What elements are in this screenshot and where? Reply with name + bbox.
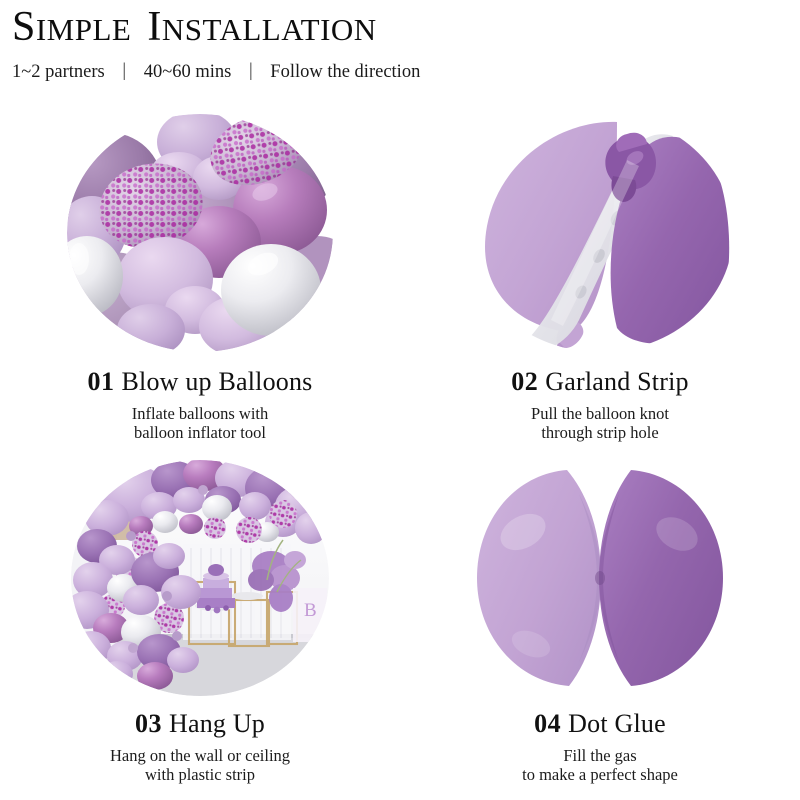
step-card-04: 04Dot Glue Fill the gas to make a perfec…	[400, 452, 800, 800]
title-simple-rest: IMPLE	[36, 12, 132, 47]
step-01-caption: 01Blow up Balloons Inflate balloons with…	[0, 367, 400, 442]
dot-glue-balloons-illustration	[471, 460, 729, 696]
step-03-title: Hang Up	[169, 709, 265, 738]
step-04-heading: 04Dot Glue	[400, 709, 800, 739]
svg-text:B: B	[304, 600, 317, 621]
step-04-caption: 04Dot Glue Fill the gas to make a perfec…	[400, 709, 800, 784]
step-03-number: 03	[135, 709, 162, 738]
step-04-title: Dot Glue	[568, 709, 666, 738]
installation-guide-page: SIMPLEINSTALLATION 1~2 partners | 40~60 …	[0, 0, 800, 800]
step-03-desc-line-1: Hang on the wall or ceiling	[0, 746, 400, 765]
step-02-description: Pull the balloon knot through strip hole	[400, 404, 800, 442]
step-01-description: Inflate balloons with balloon inflator t…	[0, 404, 400, 442]
title-word-simple: SIMPLE	[12, 4, 131, 50]
step-02-desc-line-2: through strip hole	[400, 423, 800, 442]
step-01-number: 01	[88, 367, 115, 396]
title-simple-initial: S	[12, 4, 36, 50]
steps-grid: 01Blow up Balloons Inflate balloons with…	[0, 100, 800, 800]
title-installation-rest: NSTALLATION	[162, 12, 377, 47]
step-02-caption: 02Garland Strip Pull the balloon knot th…	[400, 367, 800, 442]
step-04-description: Fill the gas to make a perfect shape	[400, 746, 800, 784]
step-03-caption: 03Hang Up Hang on the wall or ceiling wi…	[0, 709, 400, 784]
step-04-desc-line-1: Fill the gas	[400, 746, 800, 765]
meta-separator-1: |	[109, 60, 139, 82]
step-card-01: 01Blow up Balloons Inflate balloons with…	[0, 100, 400, 452]
step-04-number: 04	[534, 709, 561, 738]
step-04-image	[471, 460, 729, 696]
step-01-heading: 01Blow up Balloons	[0, 367, 400, 397]
meta-time: 40~60 mins	[144, 62, 232, 82]
step-02-desc-line-1: Pull the balloon knot	[400, 404, 800, 423]
page-header: SIMPLEINSTALLATION 1~2 partners | 40~60 …	[12, 4, 788, 83]
step-02-title: Garland Strip	[545, 367, 688, 396]
title-installation-initial: I	[147, 4, 162, 50]
garland-strip-illustration	[467, 114, 733, 352]
step-03-heading: 03Hang Up	[0, 709, 400, 739]
meta-direction: Follow the direction	[270, 62, 420, 82]
meta-partners: 1~2 partners	[12, 62, 105, 82]
step-01-desc-line-2: balloon inflator tool	[0, 423, 400, 442]
step-card-02: 02Garland Strip Pull the balloon knot th…	[400, 100, 800, 452]
step-04-desc-line-2: to make a perfect shape	[400, 765, 800, 784]
step-02-number: 02	[511, 367, 538, 396]
step-02-heading: 02Garland Strip	[400, 367, 800, 397]
page-subtitle: 1~2 partners | 40~60 mins | Follow the d…	[12, 61, 788, 83]
balloon-garland-party-illustration: B	[71, 460, 329, 696]
title-word-installation: INSTALLATION	[147, 4, 376, 50]
step-03-description: Hang on the wall or ceiling with plastic…	[0, 746, 400, 784]
step-01-desc-line-1: Inflate balloons with	[0, 404, 400, 423]
step-card-03: B	[0, 452, 400, 800]
meta-separator-2: |	[236, 60, 266, 82]
step-01-title: Blow up Balloons	[122, 367, 313, 396]
step-03-desc-line-2: with plastic strip	[0, 765, 400, 784]
step-03-image: B	[71, 460, 329, 696]
step-02-image	[467, 114, 733, 352]
balloons-assortment-illustration	[67, 114, 333, 352]
page-title: SIMPLEINSTALLATION	[12, 4, 788, 53]
step-01-image	[67, 114, 333, 352]
